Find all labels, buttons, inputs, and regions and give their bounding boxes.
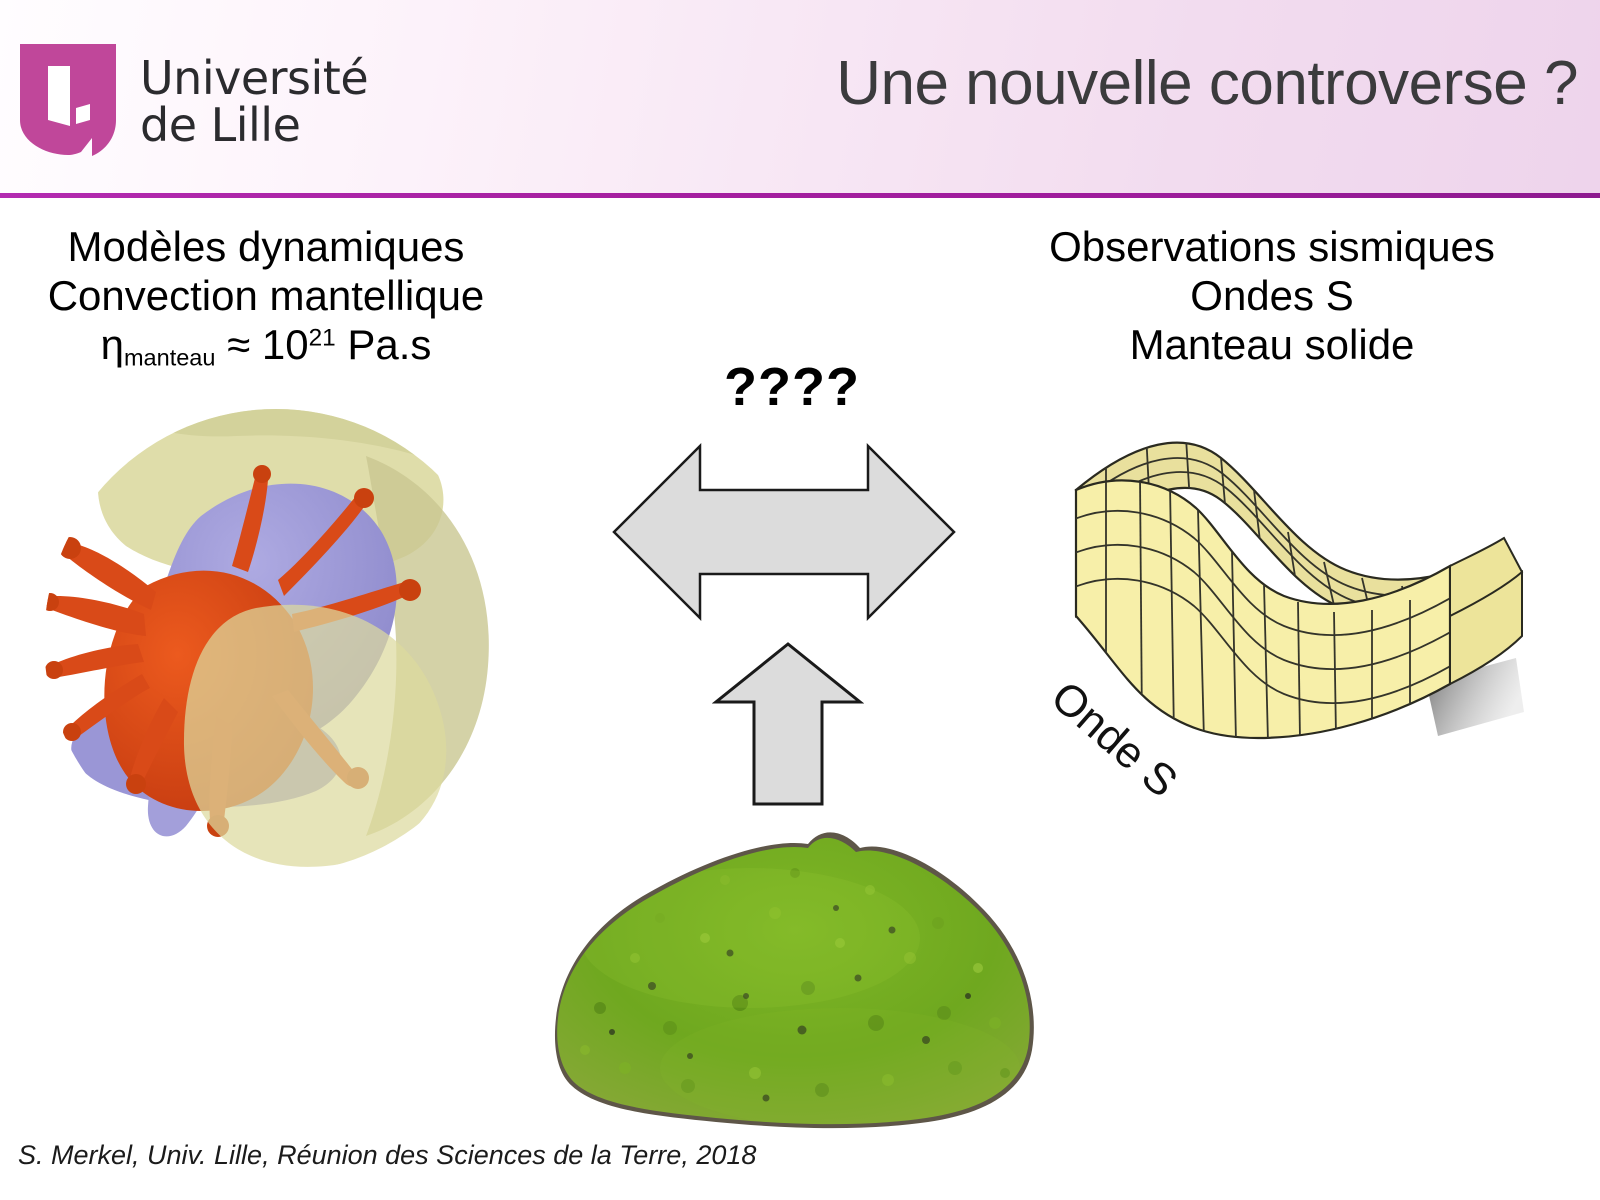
right-heading-line-1: Observations sismiques	[1022, 222, 1522, 271]
peridotite-rock-sample-figure	[540, 818, 1050, 1138]
viscosity-formula: ηmanteau ≈ 1021 Pa.s	[16, 320, 516, 372]
formula-exponent: 21	[309, 325, 336, 352]
left-heading-line-2: Convection mantellique	[16, 271, 516, 320]
university-wordmark: Université de Lille	[140, 55, 368, 149]
slide-title: Une nouvelle controverse ?	[836, 48, 1578, 119]
formula-subscript: manteau	[124, 345, 216, 371]
right-heading-line-3: Manteau solide	[1022, 320, 1522, 369]
header-divider-rule	[0, 193, 1600, 198]
footer-credit: S. Merkel, Univ. Lille, Réunion des Scie…	[18, 1140, 756, 1171]
left-column-heading: Modèles dynamiques Convection mantelliqu…	[16, 222, 516, 372]
left-heading-line-1: Modèles dynamiques	[16, 222, 516, 271]
up-arrow-icon	[712, 640, 864, 808]
right-heading-line-2: Ondes S	[1022, 271, 1522, 320]
mantle-convection-figure	[26, 396, 526, 886]
double-headed-arrow-icon	[612, 436, 956, 628]
question-marks-label: ????	[712, 356, 872, 418]
lille-shield-icon	[18, 42, 118, 162]
formula-relation: ≈ 10	[215, 321, 308, 368]
logo-line-universite: Université	[140, 55, 368, 102]
right-column-heading: Observations sismiques Ondes S Manteau s…	[1022, 222, 1522, 369]
formula-eta-symbol: η	[101, 321, 124, 368]
university-logo: Université de Lille	[18, 42, 368, 162]
logo-line-de-lille: de Lille	[140, 102, 368, 149]
formula-units: Pa.s	[336, 321, 432, 368]
